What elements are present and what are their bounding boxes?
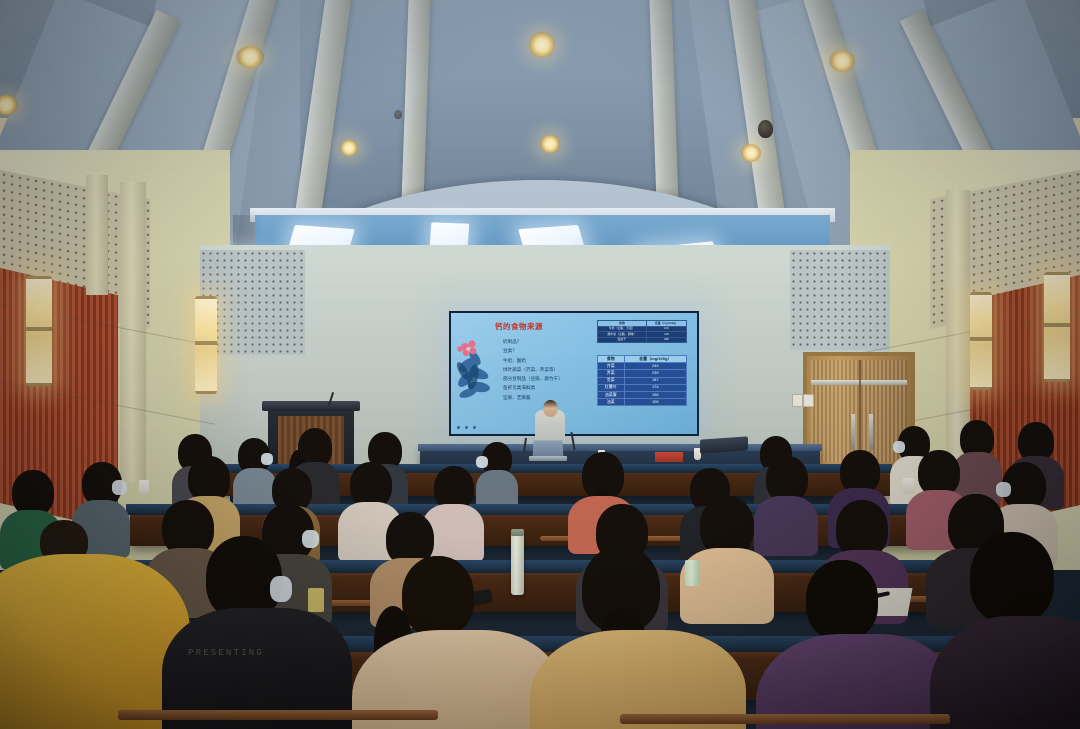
door-handle-left[interactable] — [851, 414, 855, 450]
body — [930, 616, 1080, 729]
wall-sconce-right-2 — [1044, 272, 1070, 382]
table-row: 芥菜 249 — [598, 363, 687, 370]
slide-nav-dots[interactable] — [457, 426, 476, 429]
face-mask — [112, 480, 127, 495]
slide-title: 钙的食物来源 — [495, 321, 543, 332]
main-table-cell: 红薯叶 — [598, 384, 625, 391]
paper-cup[interactable] — [139, 480, 149, 495]
main-table-cell: 156 — [624, 391, 686, 398]
door-seam — [859, 360, 861, 462]
wall-sconce-left-1 — [195, 296, 217, 394]
face-mask — [996, 482, 1011, 497]
table-row: 红薯叶 174 — [598, 384, 687, 391]
main-table-cell: 187 — [624, 377, 686, 384]
red-name-plate — [655, 452, 683, 462]
face-mask — [893, 441, 905, 453]
wall-column-left — [86, 175, 108, 295]
slide-bullet-list: 奶制品？ 豆类？ 牛奶、酸奶 绿叶蔬菜（芥菜、荠菜等） 部分豆制品（豆腐、腐竹干… — [503, 337, 563, 402]
main-table-cell: 174 — [624, 384, 686, 391]
body — [754, 496, 818, 556]
downlight-icon — [829, 50, 855, 72]
door-handle-right[interactable] — [869, 414, 873, 450]
podium-top — [262, 401, 360, 411]
ceiling-camera-icon — [394, 110, 402, 119]
downlight-icon — [741, 144, 761, 162]
table-row: 油菜 108 — [598, 399, 687, 406]
slide-bullet: 奶制品？ — [503, 337, 563, 346]
head — [700, 496, 754, 556]
table-row: 豆腐干 299 — [598, 337, 687, 343]
main-table-cell: 249 — [624, 363, 686, 370]
jacket-brand-text: PRESENTING — [188, 648, 264, 658]
main-table-cell: 239 — [624, 370, 686, 377]
slide-content: 钙的食物来源 — [451, 313, 697, 434]
light-switch[interactable] — [803, 394, 814, 407]
slide-nav-dot[interactable] — [465, 426, 468, 429]
face-mask — [270, 576, 292, 602]
acoustic-panel-front-right — [790, 250, 890, 350]
phone-in-hand[interactable] — [308, 588, 324, 612]
small-table-cell: 豆腐干 — [598, 337, 647, 343]
main-table-cell: 荠菜 — [598, 370, 625, 377]
downlight-icon — [529, 32, 555, 58]
paper-cup[interactable] — [903, 478, 914, 494]
main-table-cell: 油菜 — [598, 399, 625, 406]
head — [970, 532, 1054, 624]
slide-main-table: 食物 含量（mg/100g） 芥菜 249 荠菜 239 苋菜 — [597, 355, 687, 406]
table-row: 荠菜 239 — [598, 370, 687, 377]
presenter-laptop-base — [529, 456, 567, 461]
slide-bullet: 牛奶、酸奶 — [503, 356, 563, 365]
wall-sconce-right-1 — [970, 292, 992, 390]
slide-nav-dot[interactable] — [473, 426, 476, 429]
thermos-flask[interactable] — [511, 533, 524, 595]
face-mask — [261, 453, 273, 465]
light-switch[interactable] — [792, 394, 803, 407]
main-table-cell: 108 — [624, 399, 686, 406]
bench-back-rail — [620, 714, 950, 724]
slide-bullet: 绿叶蔬菜（芥菜、荠菜等） — [503, 365, 563, 374]
main-table-header: 含量（mg/100g） — [624, 356, 686, 363]
thermos-cap — [511, 529, 524, 536]
table-row: 油菜薹 156 — [598, 391, 687, 398]
lecture-hall-photo: 钙的食物来源 — [0, 0, 1080, 729]
slide-nav-dot[interactable] — [457, 426, 460, 429]
slide-bullet: 豆类？ — [503, 346, 563, 355]
main-table-cell: 芥菜 — [598, 363, 625, 370]
head — [806, 560, 878, 640]
projection-screen: 钙的食物来源 — [449, 311, 699, 436]
face-mask — [302, 530, 319, 548]
downlight-icon — [236, 46, 264, 68]
downlight-icon — [340, 140, 358, 156]
drink-bottle[interactable] — [685, 560, 699, 586]
head — [402, 556, 474, 636]
main-table-cell: 油菜薹 — [598, 391, 625, 398]
bench-back-rail — [118, 710, 438, 720]
main-table-header: 食物 — [598, 356, 625, 363]
slide-bullet: 部分豆制品（豆腐、腐竹干） — [503, 374, 563, 383]
face-mask — [476, 456, 488, 468]
flower-decoration-icon — [453, 331, 495, 409]
small-table-cell: 299 — [646, 337, 686, 343]
downlight-icon — [540, 135, 560, 153]
presenter-head — [543, 400, 558, 417]
wall-sconce-left-2 — [26, 276, 52, 386]
slide-small-table: 食物 含量（mg/100g） 牛奶（全脂、灭菌） 104 酸牛奶（全脂、调味） … — [597, 320, 687, 343]
slide-bullet: 鱼虾贝类海鲜类 — [503, 383, 563, 392]
ceiling-camera-icon — [758, 120, 773, 138]
